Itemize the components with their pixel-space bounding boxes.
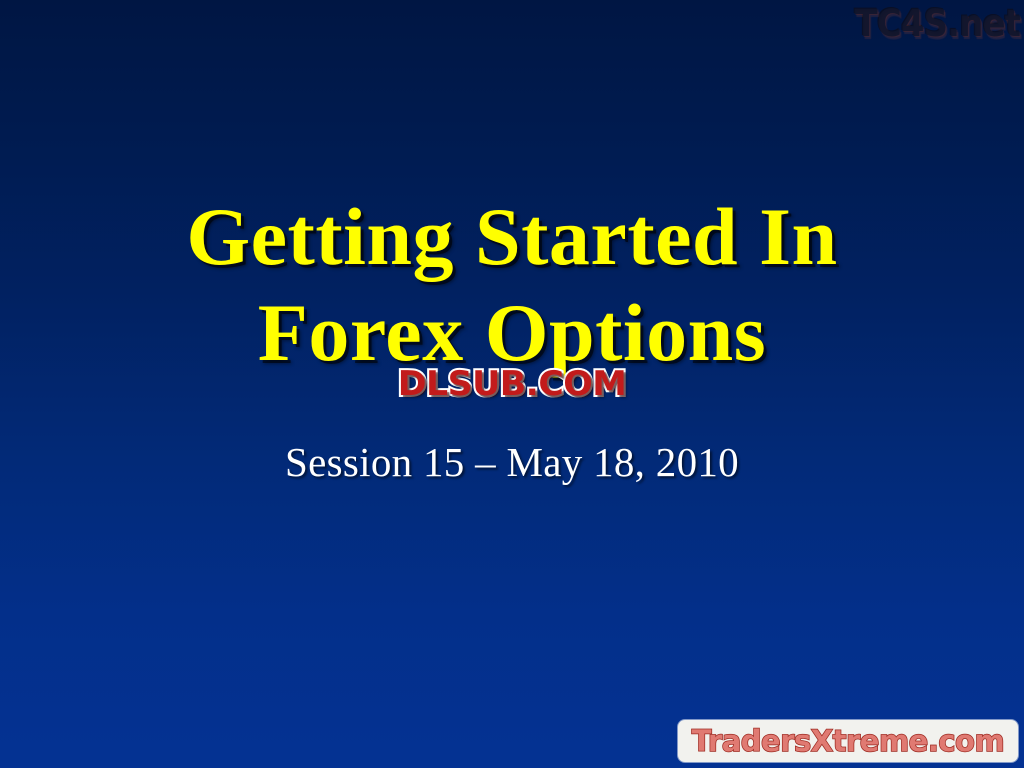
- watermark-tc4s-text: TC4S.net: [854, 2, 1020, 45]
- watermark-tradersxtreme-text: TradersXtreme.com: [692, 724, 1004, 758]
- watermark-tradersxtreme: TradersXtreme.com: [678, 720, 1018, 762]
- slide-title: Getting Started In Forex Options: [0, 196, 1024, 374]
- watermark-tc4s: TC4S.net: [840, 2, 1020, 45]
- slide-subtitle: Session 15 – May 18, 2010: [0, 438, 1024, 486]
- title-line-2: Forex Options: [0, 292, 1024, 374]
- title-line-1: Getting Started In: [0, 196, 1024, 278]
- presentation-slide: TC4S.net Getting Started In Forex Option…: [0, 0, 1024, 768]
